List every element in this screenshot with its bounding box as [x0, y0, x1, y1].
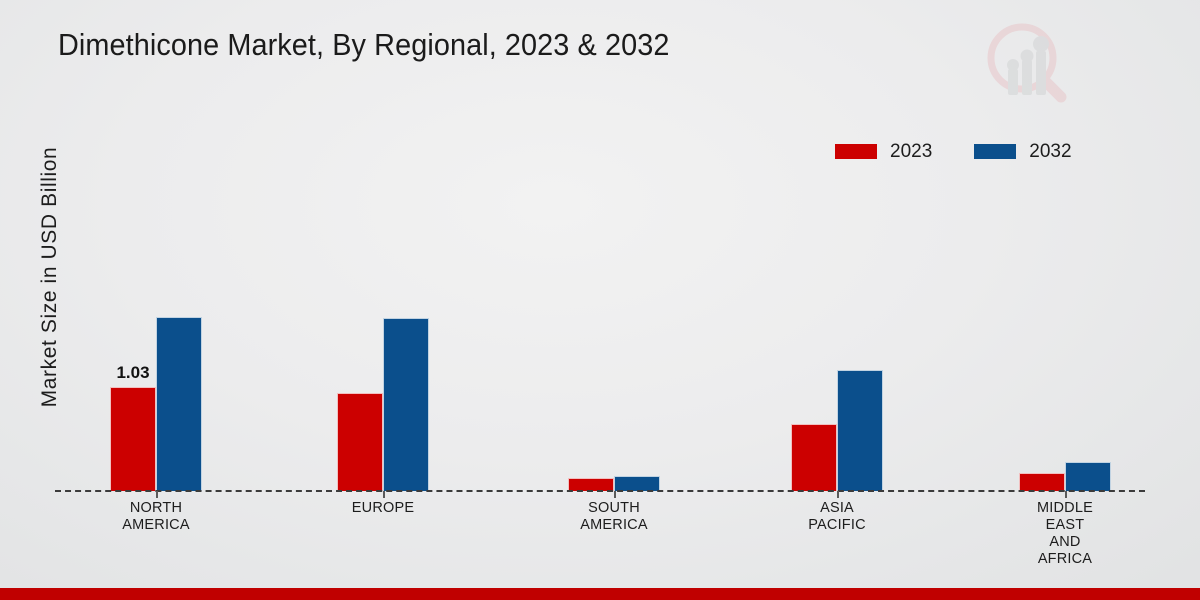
bar-group-asia-pacific [791, 130, 883, 491]
bar-south-america-2032[interactable] [614, 476, 660, 491]
x-axis-tick-middle-east-and-africa [1065, 491, 1067, 498]
x-axis-tick-south-america [614, 491, 616, 498]
bar-value-north-america-2023: 1.03 [116, 363, 149, 383]
bar-north-america-2023[interactable]: 1.03 [110, 387, 156, 491]
bar-north-america-2032[interactable] [156, 317, 202, 491]
footer-accent-bar [0, 588, 1200, 600]
x-axis-label-south-america: SOUTH AMERICA [519, 500, 709, 534]
bar-asia-pacific-2023[interactable] [791, 424, 837, 491]
bar-group-south-america [568, 130, 660, 491]
x-axis-baseline [55, 490, 1145, 492]
bar-europe-2023[interactable] [337, 393, 383, 491]
x-axis-tick-north-america [156, 491, 158, 498]
bar-chart-icon [1008, 51, 1046, 95]
bar-europe-2032[interactable] [383, 318, 429, 491]
chart-canvas: Dimethicone Market, By Regional, 2023 & … [0, 0, 1200, 600]
watermark-logo [975, 18, 1075, 108]
x-axis-tick-europe [383, 491, 385, 498]
x-axis-label-middle-east-and-africa: MIDDLE EAST AND AFRICA [970, 500, 1160, 568]
x-axis-tick-asia-pacific [837, 491, 839, 498]
bar-asia-pacific-2032[interactable] [837, 370, 883, 491]
page-title: Dimethicone Market, By Regional, 2023 & … [58, 27, 669, 63]
bar-middle-east-and-africa-2023[interactable] [1019, 473, 1065, 491]
x-axis-label-asia-pacific: ASIA PACIFIC [742, 500, 932, 534]
x-axis-label-europe: EUROPE [288, 500, 478, 517]
x-axis-label-north-america: NORTH AMERICA [61, 500, 251, 534]
bar-group-europe [337, 130, 429, 491]
bar-group-middle-east-and-africa [1019, 130, 1111, 491]
trend-dots-icon [1007, 36, 1049, 71]
magnifier-icon [991, 27, 1061, 97]
plot-area: 1.03 [55, 130, 1145, 491]
bar-group-north-america: 1.03 [110, 130, 202, 491]
bar-middle-east-and-africa-2032[interactable] [1065, 462, 1111, 491]
